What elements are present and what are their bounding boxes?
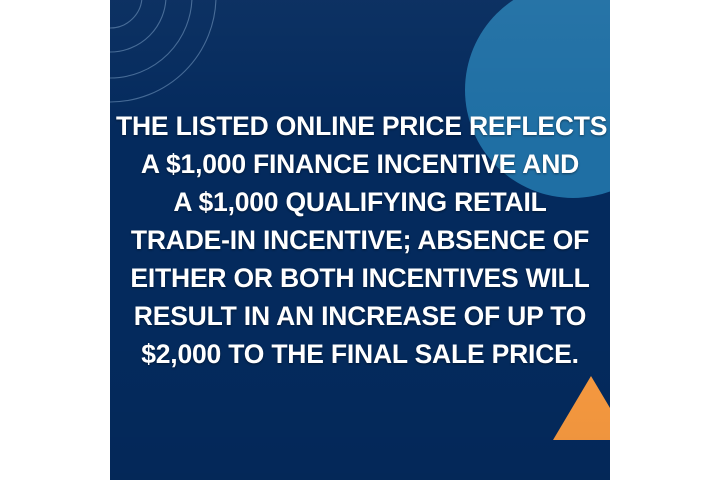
headline-line-3: A $1,000 QUALIFYING RETAIL bbox=[116, 183, 604, 221]
image-canvas: THE LISTED ONLINE PRICE REFLECTS A $1,00… bbox=[0, 0, 720, 480]
disclaimer-headline: THE LISTED ONLINE PRICE REFLECTS A $1,00… bbox=[110, 0, 610, 480]
headline-line-5: EITHER OR BOTH INCENTIVES WILL bbox=[116, 259, 604, 297]
headline-line-6: RESULT IN AN INCREASE OF UP TO bbox=[116, 297, 604, 335]
headline-line-2: A $1,000 FINANCE INCENTIVE AND bbox=[116, 145, 604, 183]
headline-line-7: $2,000 TO THE FINAL SALE PRICE. bbox=[116, 335, 604, 373]
headline-line-4: TRADE-IN INCENTIVE; ABSENCE OF bbox=[116, 221, 604, 259]
headline-line-1: THE LISTED ONLINE PRICE REFLECTS bbox=[116, 107, 604, 145]
price-disclaimer-card: THE LISTED ONLINE PRICE REFLECTS A $1,00… bbox=[110, 0, 610, 480]
